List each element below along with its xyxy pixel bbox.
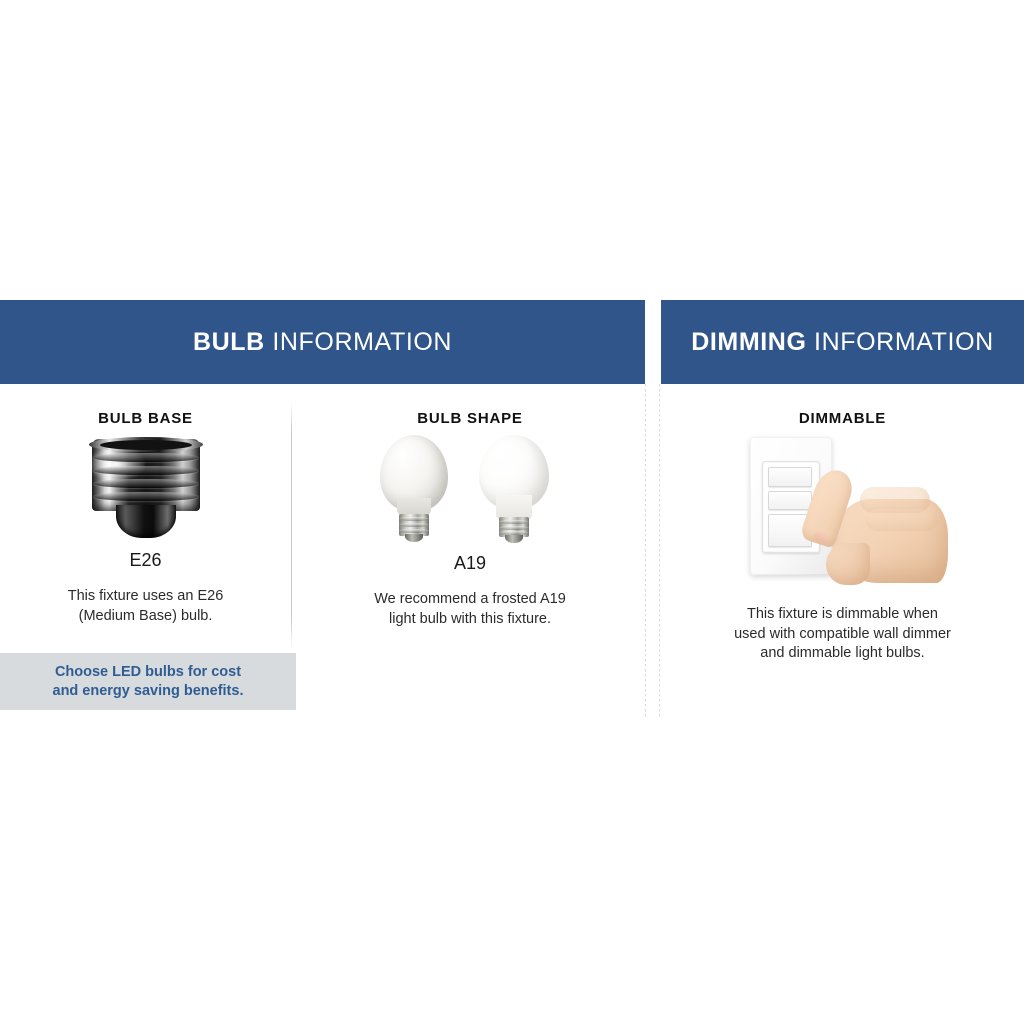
hand-icon: [796, 469, 948, 583]
bulb-shape-title: BULB SHAPE: [295, 410, 645, 427]
bulb-base-spec-label: E26: [0, 550, 291, 571]
bulb-base-title: BULB BASE: [0, 410, 291, 427]
bulb-shape-description: We recommend a frosted A19 light bulb wi…: [295, 590, 645, 629]
dimming-information-header-band: DIMMING INFORMATION: [661, 300, 1024, 384]
bulb-information-header-band: BULB INFORMATION: [0, 300, 645, 384]
bulb-shape-column: BULB SHAPE: [295, 384, 645, 629]
dimming-information-header-title: DIMMING INFORMATION: [691, 328, 994, 357]
header-title-light-word: INFORMATION: [814, 328, 994, 356]
bulb-columns-divider: [291, 402, 292, 648]
bulb-and-dimming-info-graphic: BULB INFORMATION DIMMING INFORMATION BUL…: [0, 0, 1024, 1024]
dimmable-description-line-1: This fixture is dimmable when: [661, 605, 1024, 625]
led-bulb-icon: [474, 435, 554, 543]
dimmable-title: DIMMABLE: [661, 410, 1024, 427]
bulb-shape-spec-label: A19: [295, 553, 645, 574]
led-callout-line-2: and energy saving benefits.: [53, 682, 244, 701]
panel-dotted-divider-right: [659, 384, 660, 718]
dimming-information-panel: DIMMABLE This fixture is dimmable when: [661, 384, 1024, 724]
dimmable-description-line-2: used with compatible wall dimmer: [661, 625, 1024, 645]
bulb-base-column: BULB BASE E26 This fixture uses an E26 (…: [0, 384, 291, 626]
wall-dimmer-hand-icon: [738, 435, 948, 583]
bulb-base-description-line-2: (Medium Base) bulb.: [0, 607, 291, 627]
bulb-shape-description-line-2: light bulb with this fixture.: [295, 610, 645, 630]
bulb-base-description: This fixture uses an E26 (Medium Base) b…: [0, 587, 291, 626]
bulb-information-header-title: BULB INFORMATION: [193, 328, 452, 357]
dimmable-description-line-3: and dimmable light bulbs.: [661, 644, 1024, 664]
led-callout-line-1: Choose LED bulbs for cost: [53, 663, 244, 682]
dimmable-description: This fixture is dimmable when used with …: [661, 605, 1024, 664]
dimmable-column: DIMMABLE This fixture is dimmable when: [661, 384, 1024, 664]
frosted-incandescent-bulb-icon: [374, 435, 454, 543]
header-title-bold-word: DIMMING: [691, 328, 806, 356]
led-callout-text: Choose LED bulbs for cost and energy sav…: [53, 663, 244, 701]
e26-socket-icon: [86, 437, 206, 542]
header-title-bold-word: BULB: [193, 328, 265, 356]
bulb-base-description-line-1: This fixture uses an E26: [0, 587, 291, 607]
header-title-light-word: INFORMATION: [272, 328, 452, 356]
a19-bulbs-icon: [370, 433, 570, 543]
panel-dotted-divider-left: [645, 384, 646, 718]
bulb-shape-description-line-1: We recommend a frosted A19: [295, 590, 645, 610]
led-savings-callout: Choose LED bulbs for cost and energy sav…: [0, 653, 296, 710]
